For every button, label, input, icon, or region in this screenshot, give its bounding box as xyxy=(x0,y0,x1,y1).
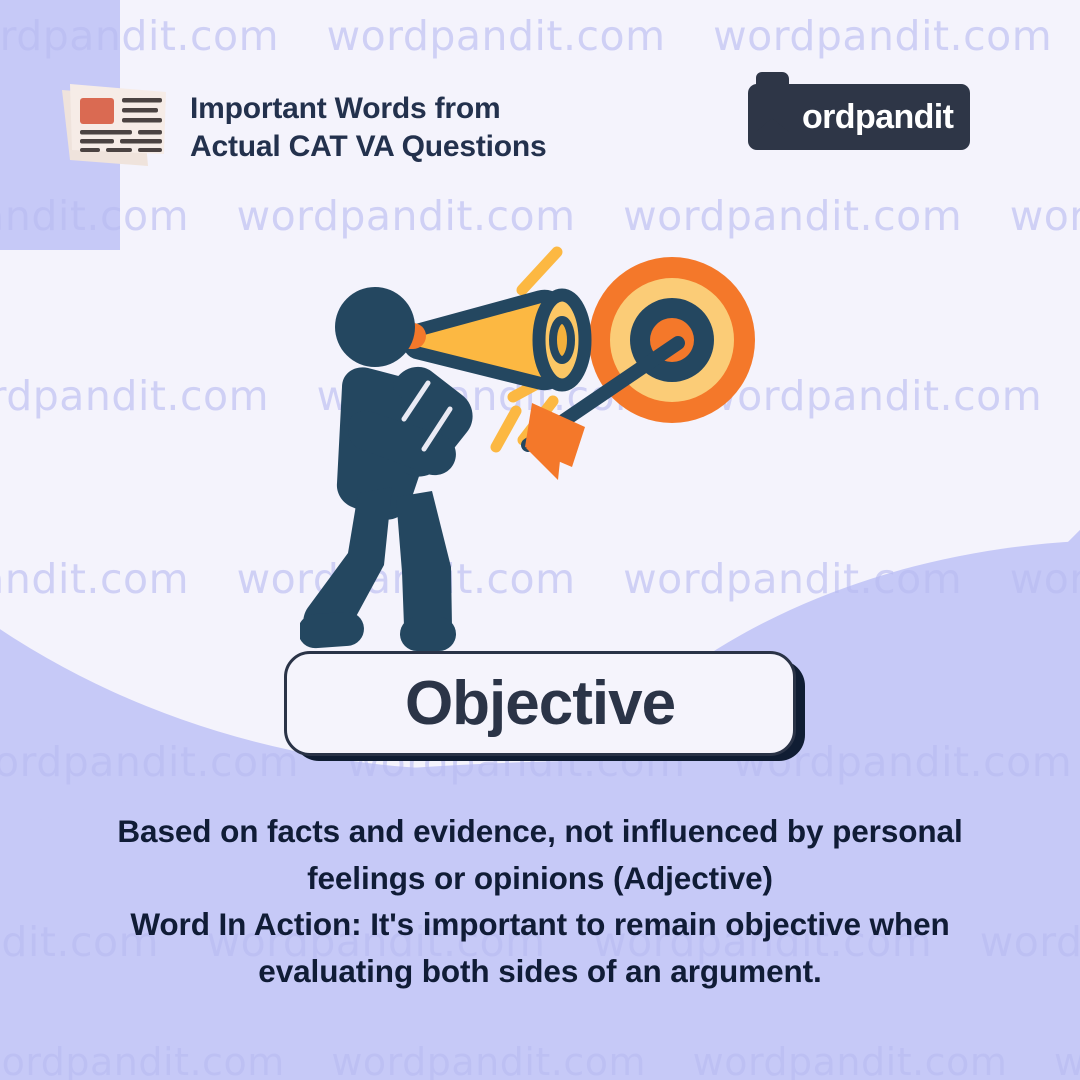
newspaper-icon xyxy=(52,72,180,168)
header: Important Words from Actual CAT VA Quest… xyxy=(0,0,1080,190)
illustration-megaphone-target xyxy=(300,235,800,665)
bookmark-w-icon xyxy=(742,70,798,154)
logo-text: ordpandit xyxy=(802,84,953,150)
word-card-graphic: wordpandit.com wordpandit.com wordpandit… xyxy=(0,0,1080,1080)
word-card-body: Objective xyxy=(284,651,796,756)
word-in-action-line-2: evaluating both sides of an argument. xyxy=(34,948,1046,995)
page-title-line-1: Important Words from xyxy=(190,90,750,128)
definition-block: Based on facts and evidence, not influen… xyxy=(34,808,1046,994)
word-card: Objective xyxy=(284,651,814,761)
vocabulary-word: Objective xyxy=(405,673,675,735)
wordpandit-logo[interactable]: ordpandit xyxy=(748,84,970,150)
page-title-line-2: Actual CAT VA Questions xyxy=(190,128,750,166)
page-title: Important Words from Actual CAT VA Quest… xyxy=(190,90,750,167)
definition-line-1: Based on facts and evidence, not influen… xyxy=(34,808,1046,855)
word-in-action-line-1: Word In Action: It's important to remain… xyxy=(34,901,1046,948)
definition-line-2: feelings or opinions (Adjective) xyxy=(34,855,1046,902)
